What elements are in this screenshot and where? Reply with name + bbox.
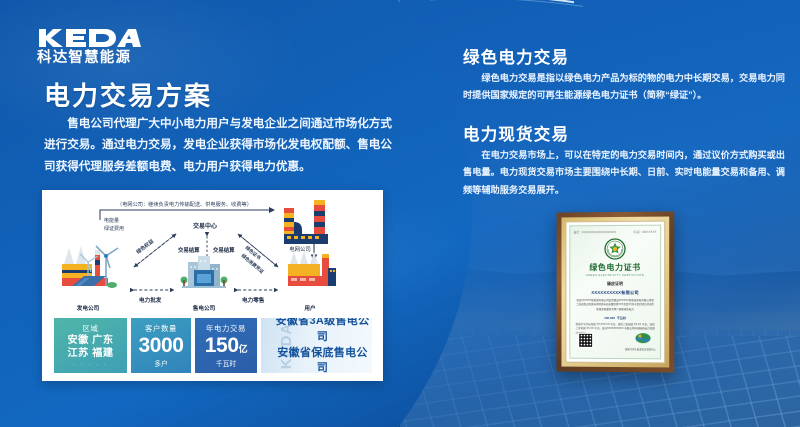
icon-generation-company — [62, 246, 118, 288]
stat-customers-value: 3000 — [138, 335, 183, 356]
stat-badge-line2: 安徽省保底售电公司 — [273, 346, 372, 374]
diagram-center-label: 交易中心 — [193, 222, 217, 230]
certificate-org: 国家可再生能源信息管理中心 — [625, 347, 656, 351]
certificate-date: （认证）2024-XX-XX — [632, 230, 657, 234]
lead-paragraph: 售电公司代理广大中小电力用户与发电企业之间通过市场化方式进行交易。通过电力交易，… — [44, 113, 392, 177]
stat-region-line2: 江苏 福建 — [67, 348, 113, 361]
stats-strip: 区域 安徽 广东 江苏 福建 · · · · · 客户数量 3000 多户 年电… — [54, 318, 372, 373]
stat-region-line1: 安徽 广东 — [67, 335, 113, 348]
section-title-green-power: 绿色电力交易 — [463, 44, 569, 68]
stat-annual-caption: 年电力交易 — [206, 323, 246, 334]
stat-annual-number: 150 — [205, 334, 239, 357]
section-body-spot-trading: 在电力交易市场上，可以在特定的电力交易时间内，通过议价方式购买或出售电量。电力现… — [463, 147, 785, 199]
diagram-label-wholesale: 电力批发 — [139, 296, 162, 304]
brand-logo-cn: 科达智慧能源 — [37, 51, 141, 66]
certificate-serial: 编号：XXXXXXXXXXXXXXXXXXXX — [574, 230, 616, 234]
power-trading-flow-diagram: （电网公司：继续负责电力传输配送、供电服务、收费等） 电能量 绿证费用 交易中心… — [42, 190, 383, 325]
diagram-node-user: 用户 — [303, 304, 315, 312]
diagram-node-gen: 发电公司 — [76, 304, 100, 312]
section-title-spot-trading: 电力现货交易 — [463, 121, 569, 145]
certificate-amount-value: 100,000 — [604, 316, 615, 320]
certificate-subtitle: 碳皮证明 — [607, 281, 623, 287]
certificate-topline: 编号：XXXXXXXXXXXXXXXXXXXX （认证）2024-XX-XX — [574, 230, 657, 235]
diagram-label-settle-right: 交易结算 — [213, 246, 235, 254]
diagram-left-note-1: 电能量 — [104, 217, 119, 224]
diagram-top-note: （电网公司：继续负责电力传输配送、供电服务、收费等） — [117, 200, 252, 208]
stat-annual-sub: 千瓦时 — [216, 358, 236, 368]
brand-logo: 科达智慧能源 — [37, 27, 141, 66]
icon-retailer-company — [181, 256, 228, 288]
certificate-mat: 编号：XXXXXXXXXXXXXXXXXXXX （认证）2024-XX-XX 绿… — [561, 217, 669, 368]
stat-badge: KEDA 安徽省3A级售电公司 安徽省保底售电公司 — [261, 318, 372, 373]
icon-user-factory — [288, 251, 336, 286]
stat-region-caption: 区域 — [83, 323, 99, 334]
certificate-title-en: GREEN ELECTRICITY CERTIFICATE — [586, 274, 645, 277]
section-body-green-power: 绿色电力交易是指以绿色电力产品为标的物的电力中长期交易，交易电力同时提供国家规定… — [463, 70, 785, 105]
green-certificate-frame: 编号：XXXXXXXXXXXXXXXXXXXX （认证）2024-XX-XX 绿… — [557, 211, 675, 372]
page-title: 电力交易方案 — [44, 76, 212, 113]
green-certificate-seal-icon — [604, 238, 626, 260]
certificate-org-logo-icon — [635, 332, 651, 344]
certificate-paper: 编号：XXXXXXXXXXXXXXXXXXXX （认证）2024-XX-XX 绿… — [569, 225, 661, 360]
certificate-amount: 100,000 千瓦时 — [604, 314, 626, 321]
diagram-card: （电网公司：继续负责电力传输配送、供电服务、收费等） 电能量 绿证费用 交易中心… — [42, 190, 383, 381]
stat-annual-volume: 年电力交易 150亿 千瓦时 — [195, 318, 257, 373]
diagram-left-note-2: 绿证费用 — [104, 225, 124, 232]
certificate-company: XXXXXXXXXX有限公司 — [591, 290, 638, 296]
stat-annual-value: 150亿 — [205, 335, 247, 356]
certificate-qr-code — [578, 333, 593, 348]
stat-badge-lines: 安徽省3A级售电公司 安徽省保底售电公司 — [261, 318, 372, 373]
stat-badge-line1: 安徽省3A级售电公司 — [273, 318, 372, 346]
stat-annual-unit: 亿 — [239, 344, 248, 354]
icon-grid-company — [284, 200, 328, 244]
slide-root: 科达智慧能源 电力交易方案 售电公司代理广大中小电力用户与发电企业之间通过市场化… — [0, 0, 800, 427]
certificate-title: 绿色电力证书 — [589, 262, 640, 273]
stat-region-dots: · · · · · — [73, 362, 108, 368]
diagram-node-retailer: 售电公司 — [193, 304, 216, 312]
diagram-label-settle-left: 交易结算 — [178, 246, 200, 254]
certificate-body: 现由XXXXXX新能源有限公司投资建设XXXXXX新能源发电有限公司第二批道路太… — [576, 299, 655, 312]
certificate-amount-unit: 千瓦时 — [617, 316, 626, 320]
stat-customers: 客户数量 3000 多户 — [131, 318, 191, 373]
stat-customers-caption: 客户数量 — [145, 323, 177, 334]
diagram-label-retail: 电力零售 — [242, 296, 265, 304]
stat-region: 区域 安徽 广东 江苏 福建 · · · · · — [54, 318, 127, 373]
certificate-inner: 编号：XXXXXXXXXXXXXXXXXXXX （认证）2024-XX-XX 绿… — [565, 221, 665, 364]
diagram-node-grid: 电网公司 — [289, 245, 311, 253]
keda-wordmark-icon — [37, 27, 141, 49]
stat-customers-sub: 多户 — [154, 358, 168, 368]
